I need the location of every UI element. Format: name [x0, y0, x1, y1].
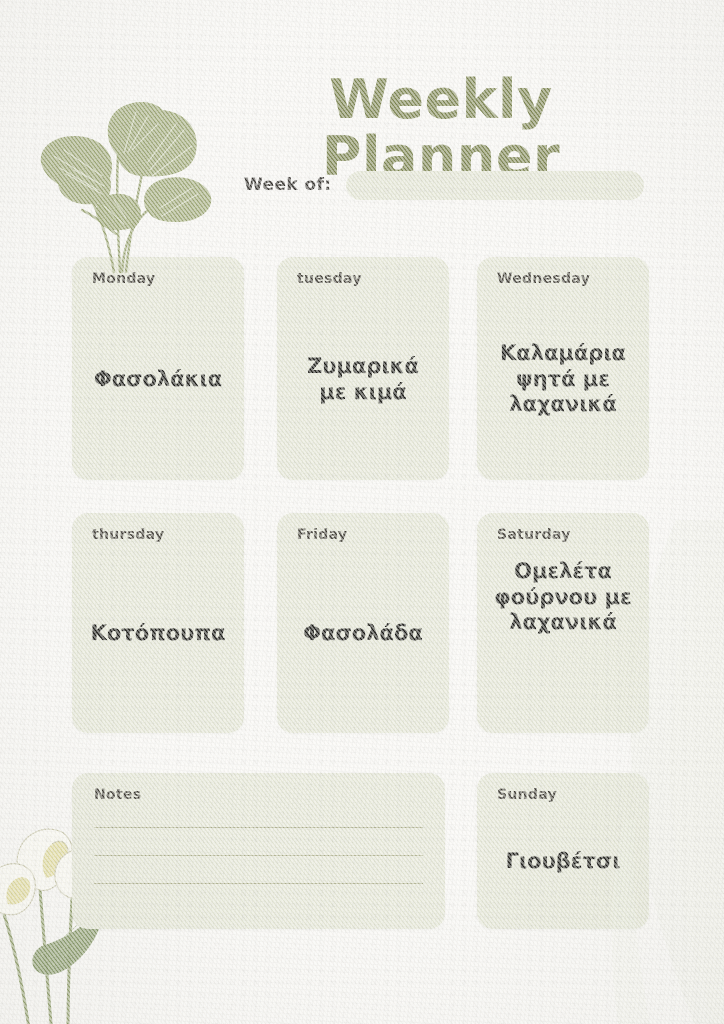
- day-card-monday[interactable]: Monday Φασολάκια: [72, 257, 244, 480]
- week-of-row: Week of:: [244, 168, 644, 202]
- notes-lines: [94, 827, 423, 884]
- day-label-saturday: Saturday: [497, 527, 639, 543]
- day-label-wednesday: Wednesday: [497, 271, 639, 287]
- day-label-monday: Monday: [92, 271, 234, 287]
- meal-text-thursday[interactable]: Κοτόπουπα: [82, 547, 234, 721]
- meal-text-tuesday[interactable]: Ζυμαρικά με κιμά: [287, 291, 439, 468]
- day-card-sunday[interactable]: Sunday Γιουβέτσι: [477, 773, 649, 929]
- day-label-thursday: thursday: [92, 527, 234, 543]
- notes-line[interactable]: [94, 827, 423, 828]
- week-of-input[interactable]: [346, 171, 644, 200]
- day-card-saturday[interactable]: Saturday Ομελέτα φούρνου με λαχανικά: [477, 513, 649, 733]
- week-of-label: Week of:: [244, 175, 332, 195]
- meal-text-sunday[interactable]: Γιουβέτσι: [487, 807, 639, 917]
- day-label-sunday: Sunday: [497, 787, 639, 803]
- notes-label: Notes: [94, 787, 423, 803]
- monstera-plant-illustration: [8, 34, 228, 274]
- notes-line[interactable]: [94, 855, 423, 856]
- meal-text-saturday[interactable]: Ομελέτα φούρνου με λαχανικά: [487, 547, 639, 721]
- notes-line[interactable]: [94, 883, 423, 884]
- meal-text-friday[interactable]: Φασολάδα: [287, 547, 439, 721]
- day-card-wednesday[interactable]: Wednesday Καλαμάρια ψητά με λαχανικά: [477, 257, 649, 480]
- day-label-tuesday: tuesday: [297, 271, 439, 287]
- meal-text-monday[interactable]: Φασολάκια: [82, 291, 234, 468]
- weekly-planner-page: Weekly Planner Week of: Monday Φασολάκια…: [0, 0, 724, 1024]
- day-card-thursday[interactable]: thursday Κοτόπουπα: [72, 513, 244, 733]
- day-card-tuesday[interactable]: tuesday Ζυμαρικά με κιμά: [277, 257, 449, 480]
- day-label-friday: Friday: [297, 527, 439, 543]
- meal-text-wednesday[interactable]: Καλαμάρια ψητά με λαχανικά: [487, 291, 639, 468]
- notes-card[interactable]: Notes: [72, 773, 445, 929]
- day-card-friday[interactable]: Friday Φασολάδα: [277, 513, 449, 733]
